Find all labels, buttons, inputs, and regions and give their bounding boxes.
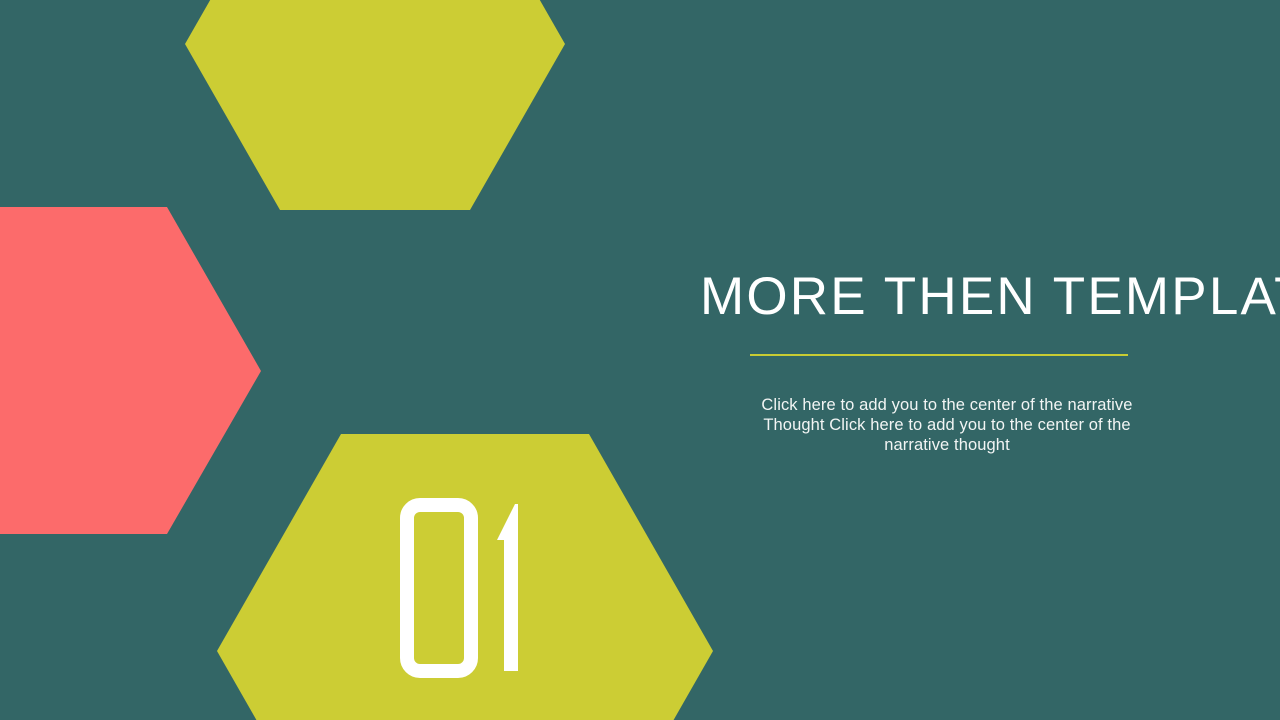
slide-body-text: Click here to add you to the center of t… — [742, 395, 1152, 455]
slide-text-block: MORE THEN TEMPLATE Click here to add you… — [700, 268, 1220, 326]
title-divider — [750, 354, 1128, 356]
hexagon-shape — [217, 434, 713, 720]
page-title: MORE THEN TEMPLATE — [700, 268, 1220, 326]
yellow-hexagon-top — [185, 0, 565, 211]
hexagon-shape — [185, 0, 565, 210]
yellow-hexagon-bottom — [217, 434, 713, 720]
presentation-slide: MORE THEN TEMPLATE Click here to add you… — [0, 0, 1280, 720]
